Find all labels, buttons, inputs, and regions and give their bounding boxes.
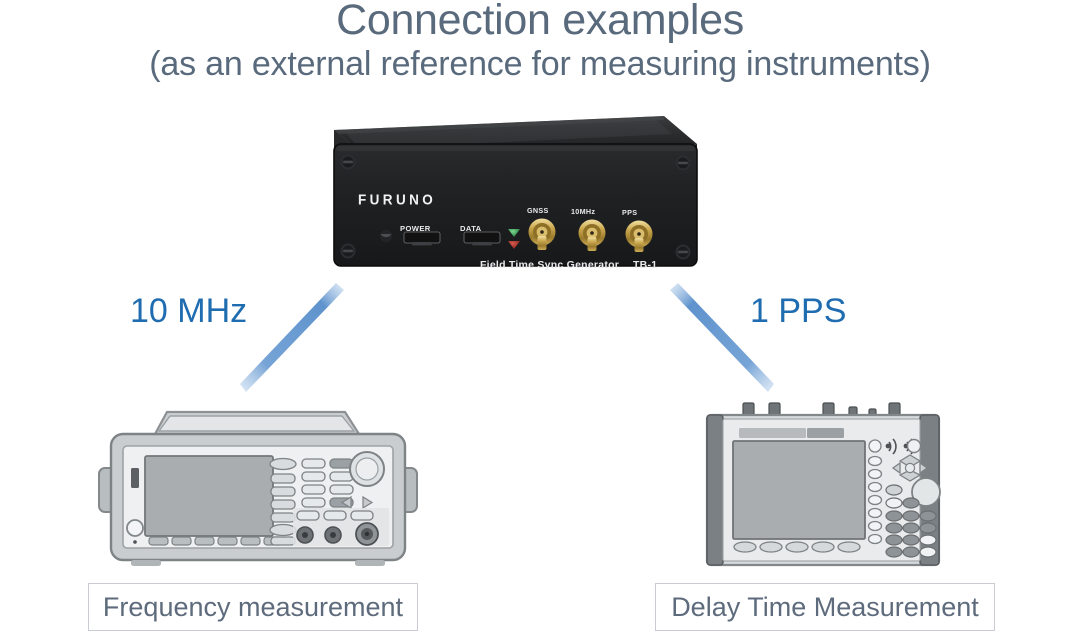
data-port bbox=[464, 232, 500, 245]
power-port bbox=[404, 232, 440, 245]
device-model-name: Field Time Sync Generator bbox=[480, 259, 619, 271]
furuno-brand-label: FURUNO bbox=[358, 191, 436, 208]
10mhz-connector-label: 10MHz bbox=[571, 207, 595, 216]
gnss-connector-label: GNSS bbox=[527, 206, 549, 215]
connection-examples-diagram: Connection examples (as an external refe… bbox=[0, 0, 1080, 635]
page-subtitle: (as an external reference for measuring … bbox=[0, 45, 1080, 84]
connection-line-left bbox=[240, 283, 344, 392]
caption-delay-time-measurement: Delay Time Measurement bbox=[655, 583, 995, 631]
caption-right-text: Delay Time Measurement bbox=[671, 592, 979, 623]
frequency-counter-illustration bbox=[97, 404, 419, 570]
data-port-label: DATA bbox=[460, 224, 482, 233]
reset-hole-icon bbox=[380, 230, 392, 242]
device-model-code: TB-1 bbox=[633, 259, 657, 271]
page-title: Connection examples bbox=[0, 0, 1080, 45]
portable-analyzer-illustration bbox=[697, 401, 951, 574]
caption-left-text: Frequency measurement bbox=[103, 592, 403, 623]
tb1-device: FURUNO POWER DATA GNSS 10MHz PPS Field T… bbox=[312, 108, 702, 280]
signal-label-10mhz: 10 MHz bbox=[130, 292, 247, 331]
signal-label-1pps: 1 PPS bbox=[750, 292, 846, 331]
power-port-label: POWER bbox=[400, 224, 431, 233]
pps-connector-label: PPS bbox=[622, 208, 637, 217]
caption-frequency-measurement: Frequency measurement bbox=[88, 583, 418, 631]
